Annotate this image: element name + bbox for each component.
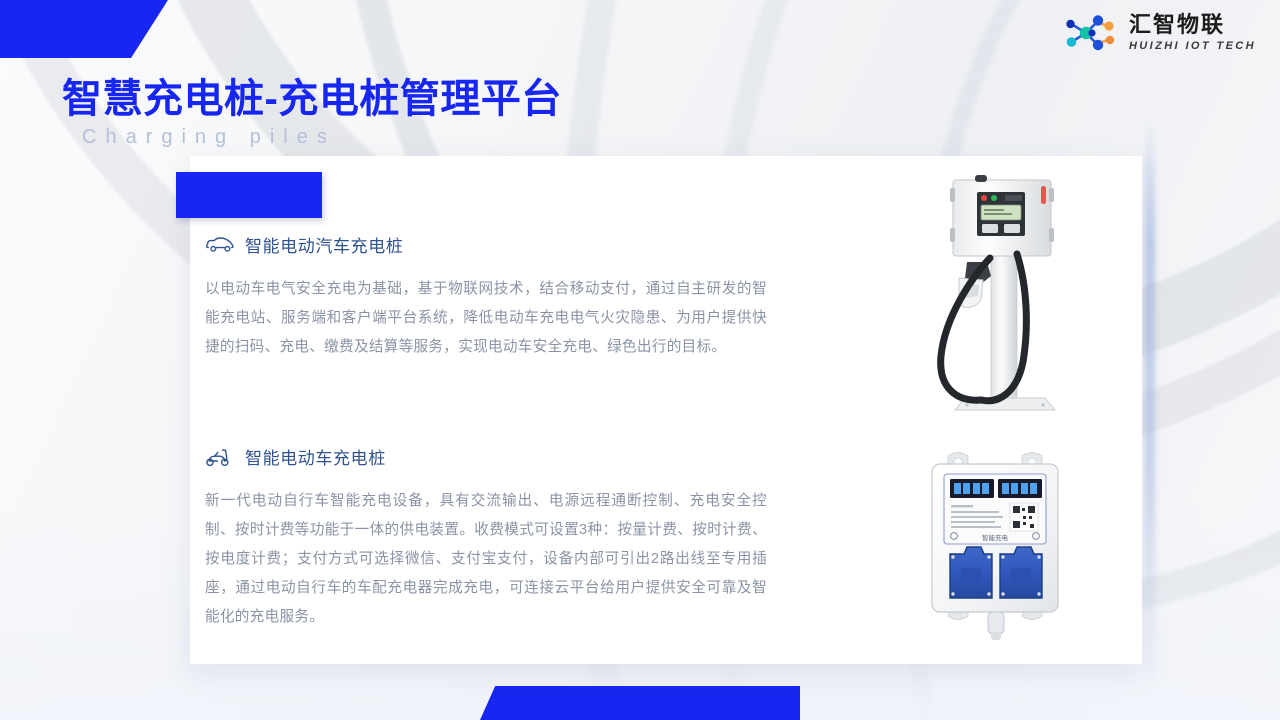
section-ev-charging-pile: 智能电动汽车充电桩 以电动车电气安全充电为基础，基于物联网技术，结合移动支付，通… [205,232,785,362]
ebike-charging-box-illustration: 智能充电 [910,446,1100,646]
section-tag-badge[interactable] [176,172,322,218]
ev-charging-pile-illustration [895,166,1115,424]
section-ebike-charging-pile: 智能电动车充电桩 新一代电动自行车智能充电设备，具有交流输出、电源远程通断控制、… [205,444,785,632]
section-2-header: 智能电动车充电桩 [205,444,785,469]
molecule-network-icon [1064,14,1120,52]
page-subtitle: Charging piles [82,126,336,149]
page-title: 智慧充电桩-充电桩管理平台 [62,66,562,124]
brand-logo: 汇智物联 HUIZHI IOT TECH [1064,14,1256,52]
section-1-header: 智能电动汽车充电桩 [205,232,785,257]
section-1-body: 以电动车电气安全充电为基础，基于物联网技术，结合移动支付，通过自主研发的智能充电… [205,275,767,362]
logo-text-block: 汇智物联 HUIZHI IOT TECH [1129,14,1256,52]
scooter-icon [205,446,235,468]
product-image-ebike-charging-box: 智能充电 [890,446,1120,651]
product-image-ev-charging-pile [890,166,1120,426]
svg-text:智能充电: 智能充电 [982,533,1009,542]
section-2-title: 智能电动车充电桩 [245,444,386,469]
section-1-title: 智能电动汽车充电桩 [245,232,403,257]
logo-name-en: HUIZHI IOT TECH [1129,41,1256,52]
car-icon [205,234,235,256]
logo-name-cn: 汇智物联 [1129,14,1256,36]
section-2-body: 新一代电动自行车智能充电设备，具有交流输出、电源远程通断控制、充电安全控制、按时… [205,487,767,632]
content-card: 智能电动汽车充电桩 以电动车电气安全充电为基础，基于物联网技术，结合移动支付，通… [190,156,1142,664]
